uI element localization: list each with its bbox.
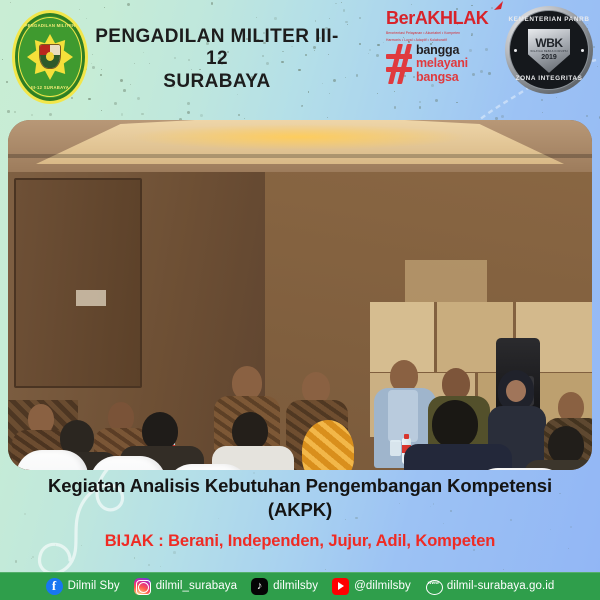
berakhlak-tick-icon [493,0,505,12]
header-bar: PENGADILAN MILITER III-12 SURABAYA PENGA… [0,0,600,120]
bangga-line-2: melayani [416,57,468,70]
wbk-dot-left [514,49,517,52]
emblem-arc-bottom-text: III-12 SURABAYA [12,85,88,90]
photo-ceiling-light [128,124,468,150]
social-link-youtube[interactable]: @dilmilsby [332,578,411,595]
wbk-dot-right [581,49,584,52]
instagram-label: dilmil_surabaya [156,580,237,592]
berakhlak-subtitle-line-2: Harmonis • Loyal • Adaptif • Kolaboratif [386,38,498,43]
bangga-melayani-bangsa-logo: bangga melayani bangsa [386,44,506,84]
title-line-1: PENGADILAN MILITER III-12 [92,26,342,70]
emblem-arc-top-text: PENGADILAN MILITER [12,23,88,28]
tiktok-label: dilmilsby [273,580,318,592]
meeting-room-photo [8,120,592,470]
court-emblem-logo: PENGADILAN MILITER III-12 SURABAYA [12,10,88,104]
photo-door [14,178,142,388]
instagram-icon [134,578,151,595]
hashtag-icon [386,44,412,84]
page-title: PENGADILAN MILITER III-12 SURABAYA [92,26,342,94]
wbk-center-text: WBK [535,36,562,50]
youtube-label: @dilmilsby [354,580,411,592]
title-line-2: SURABAYA [92,70,342,95]
youtube-icon [332,578,349,595]
caption-title-line-1: Kegiatan Analisis Kebutuhan Pengembangan… [0,474,600,498]
photo-wall-panel-6 [405,260,487,302]
social-media-footer: Dilmil Sby dilmil_surabaya dilmilsby @di… [0,572,600,600]
photo-wall-seam [8,154,592,158]
social-link-website[interactable]: dilmil-surabaya.go.id [425,578,555,595]
bangga-line-3: bangsa [416,71,468,84]
wbk-sub-text: WILAYAH BEBAS KORUPSI [530,50,567,53]
berakhlak-wordmark: BerAKHLAK [386,8,488,29]
facebook-label: Dilmil Sby [68,580,120,592]
wbk-year-text: 2019 [541,54,557,61]
tiktok-icon [251,578,268,595]
caption-block: Kegiatan Analisis Kebutuhan Pengembangan… [0,474,600,570]
wbk-arc-bottom-text: ZONA INTEGRITAS [505,75,593,82]
emblem-shield-icon [39,44,61,69]
social-link-instagram[interactable]: dilmil_surabaya [134,578,237,595]
photo-door-plate [76,290,106,306]
wbk-arc-top-text: KEMENTERIAN PANRB [505,16,593,23]
wbk-zona-integritas-badge: KEMENTERIAN PANRB ★ ★ ★ WBK WILAYAH BEBA… [505,6,593,94]
photo-glass-1 [390,440,401,456]
berakhlak-subtitle-line-1: Berorientasi Pelayanan • Akuntabel • Kom… [386,31,498,36]
website-label: dilmil-surabaya.go.id [447,580,555,592]
facebook-icon [46,578,63,595]
website-icon [425,578,442,595]
berakhlak-logo: BerAKHLAK Berorientasi Pelayanan • Akunt… [386,8,498,43]
bijak-tagline: BIJAK : Berani, Independen, Jujur, Adil,… [0,532,600,551]
caption-title-line-2: (AKPK) [0,498,600,522]
social-link-tiktok[interactable]: dilmilsby [251,578,318,595]
bangga-line-1: bangga [416,44,468,57]
social-link-facebook[interactable]: Dilmil Sby [46,578,120,595]
